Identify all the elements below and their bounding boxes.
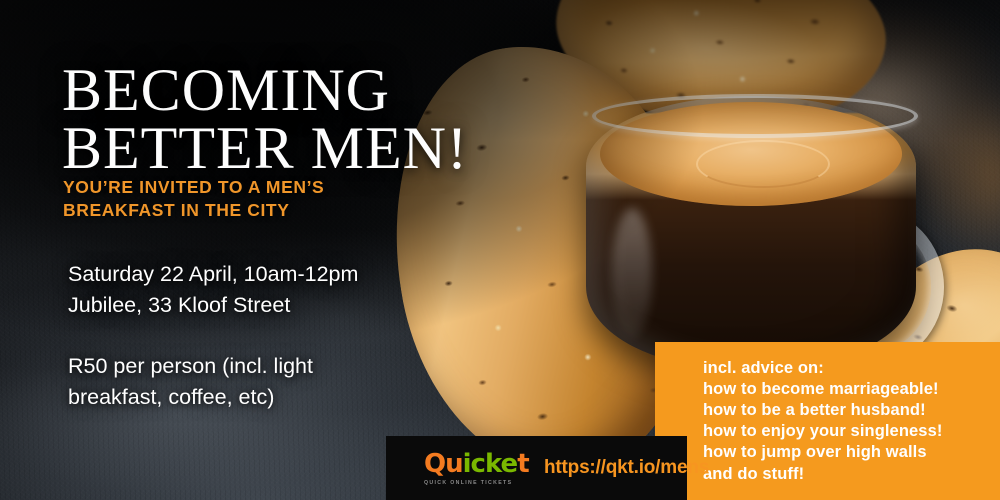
headline: BECOMING BETTER MEN!	[62, 62, 468, 177]
logo-text-part1: Qu	[424, 449, 463, 479]
logo-text-part3: t	[517, 449, 528, 479]
subtitle: YOU’RE INVITED TO A MEN’S BREAKFAST IN T…	[63, 176, 324, 222]
event-details: Saturday 22 April, 10am-12pm Jubilee, 33…	[68, 259, 358, 320]
quicket-logo-wordmark: Quicket	[424, 451, 522, 477]
logo-text-part2: icke	[463, 449, 518, 479]
footer-bar: Quicket QUICK ONLINE TICKETS https://qkt…	[386, 436, 687, 500]
event-banner: BECOMING BETTER MEN! YOU’RE INVITED TO A…	[0, 0, 1000, 500]
quicket-logo-tagline: QUICK ONLINE TICKETS	[424, 480, 522, 486]
quicket-logo[interactable]: Quicket QUICK ONLINE TICKETS	[424, 451, 522, 486]
advice-list: incl. advice on: how to become marriagea…	[703, 358, 942, 485]
ticket-url[interactable]: https://qkt.io/mens	[544, 457, 709, 479]
event-price: R50 per person (incl. light breakfast, c…	[68, 351, 313, 412]
